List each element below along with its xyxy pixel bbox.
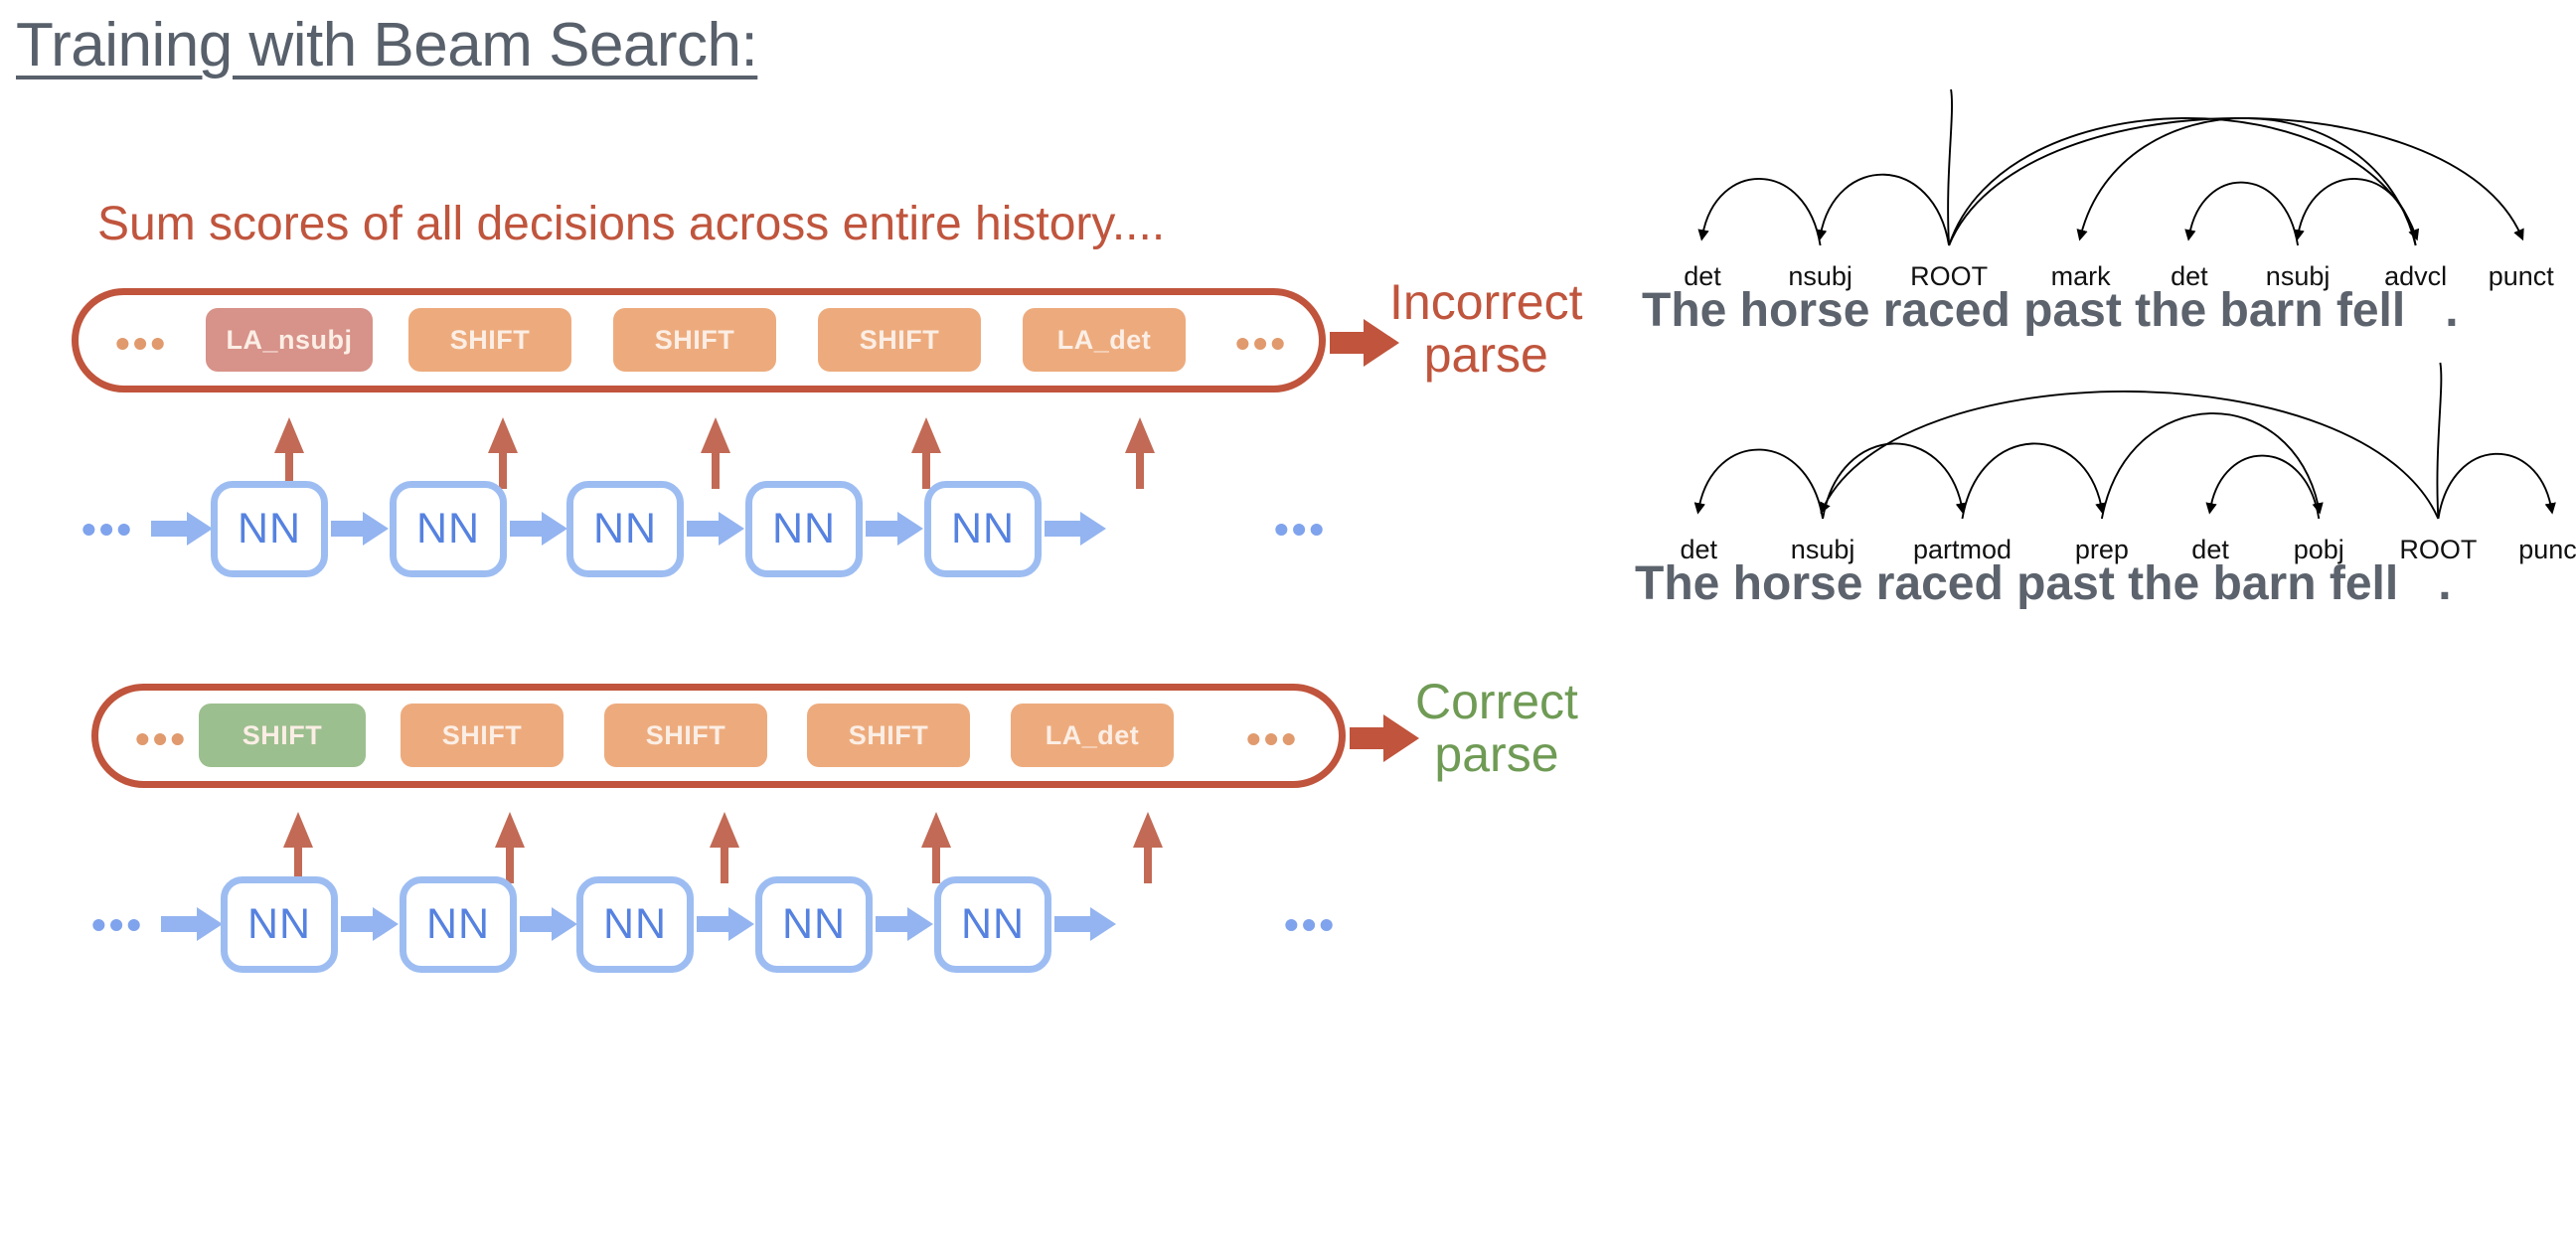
dep-arc-root [2437, 363, 2441, 519]
nn-leading-ellipsis-row1: ••• [81, 509, 134, 550]
nn-input-arrow-row2 [161, 907, 223, 941]
score-arrow-correct-2 [495, 812, 525, 883]
dep-label-punct-7: punct [2489, 261, 2554, 292]
dep-arc-det [1698, 450, 1823, 519]
nn-trailing-ellipsis-row1: ••• [1274, 509, 1327, 550]
action-chip-shift-correct-1[interactable]: SHIFT [199, 704, 366, 767]
dep-arc-advcl [1949, 118, 2416, 245]
dep-arc-nsubj [1821, 175, 1949, 245]
score-arrow-4 [911, 417, 941, 489]
dependency-parse-correct: detnsubjpartmodprepdetpobjROOTpunct The … [1640, 353, 2564, 641]
nn-leading-ellipsis-row2: ••• [91, 904, 144, 946]
dep-arc-mark [2081, 118, 2416, 245]
score-arrow-1 [274, 417, 304, 489]
action-chip-shift-3[interactable]: SHIFT [818, 308, 981, 372]
nn-link-arrow-row2-3 [697, 907, 754, 941]
dep-arc-partmod [1823, 443, 1962, 519]
dep-arc-nsubj [2298, 179, 2416, 245]
verdict-correct-parse: Correct parse [1415, 676, 1578, 781]
nn-box-row1-1[interactable]: NN [211, 481, 328, 577]
dep-label-punct-7: punct [2518, 535, 2576, 565]
action-chip-la-nsubj[interactable]: LA_nsubj [206, 308, 373, 372]
nn-link-arrow-row1-1 [331, 512, 389, 546]
parse-sentence-correct: The horse raced past the barn fell . [1635, 556, 2452, 611]
beam-trailing-ellipsis-correct: ••• [1246, 718, 1299, 760]
nn-output-arrow-row1 [1045, 512, 1106, 546]
verdict-correct-line1: Correct [1415, 676, 1578, 728]
sum-scores-note: Sum scores of all decisions across entir… [97, 197, 1165, 251]
nn-box-row1-2[interactable]: NN [390, 481, 507, 577]
nn-output-arrow-row2 [1054, 907, 1116, 941]
action-chip-shift-correct-4[interactable]: SHIFT [807, 704, 970, 767]
nn-box-row1-4[interactable]: NN [745, 481, 863, 577]
dep-arc-punct [2438, 454, 2551, 519]
beam-leading-ellipsis-incorrect: ••• [115, 323, 168, 365]
dep-arc-prep [1962, 443, 2101, 519]
nn-box-row2-3[interactable]: NN [576, 876, 694, 973]
nn-link-arrow-row2-4 [876, 907, 933, 941]
page-title: Training with Beam Search: [16, 10, 757, 80]
nn-link-arrow-row2-1 [341, 907, 399, 941]
nn-box-row2-5[interactable]: NN [934, 876, 1051, 973]
nn-box-row2-1[interactable]: NN [221, 876, 338, 973]
nn-link-arrow-row2-2 [520, 907, 577, 941]
nn-link-arrow-row1-3 [687, 512, 744, 546]
nn-box-row2-4[interactable]: NN [755, 876, 873, 973]
parse-sentence-incorrect: The horse raced past the barn fell . [1642, 283, 2459, 338]
score-arrow-5 [1125, 417, 1155, 489]
action-chip-la-det[interactable]: LA_det [1023, 308, 1186, 372]
dep-arc-root [1948, 89, 1952, 245]
nn-input-arrow-row1 [151, 512, 213, 546]
nn-box-row1-5[interactable]: NN [924, 481, 1042, 577]
verdict-incorrect-line1: Incorrect [1389, 276, 1583, 329]
dependency-parse-incorrect: detnsubjROOTmarkdetnsubjadvclpunct The h… [1650, 79, 2554, 368]
dep-arc-det [1702, 179, 1821, 245]
score-arrow-correct-3 [710, 812, 739, 883]
score-arrow-correct-1 [283, 812, 313, 883]
action-chip-shift-correct-2[interactable]: SHIFT [401, 704, 563, 767]
score-arrow-2 [488, 417, 518, 489]
dep-arc-pobj [2102, 413, 2319, 519]
action-chip-shift-1[interactable]: SHIFT [408, 308, 571, 372]
score-arrow-3 [701, 417, 730, 489]
nn-box-row2-2[interactable]: NN [400, 876, 517, 973]
action-chip-la-det-correct[interactable]: LA_det [1011, 704, 1174, 767]
action-chip-shift-correct-3[interactable]: SHIFT [604, 704, 767, 767]
beam-trailing-ellipsis-incorrect: ••• [1235, 323, 1288, 365]
dep-arc-det [2189, 183, 2298, 245]
nn-box-row1-3[interactable]: NN [566, 481, 684, 577]
nn-trailing-ellipsis-row2: ••• [1284, 904, 1337, 946]
nn-link-arrow-row1-2 [510, 512, 567, 546]
score-arrow-correct-5 [1133, 812, 1163, 883]
nn-link-arrow-row1-4 [866, 512, 923, 546]
dep-arc-punct [1949, 118, 2521, 245]
beam-leading-ellipsis-correct: ••• [135, 718, 188, 760]
score-arrow-correct-4 [921, 812, 951, 883]
verdict-correct-line2: parse [1415, 728, 1578, 781]
verdict-incorrect-parse: Incorrect parse [1389, 276, 1583, 382]
action-chip-shift-2[interactable]: SHIFT [613, 308, 776, 372]
verdict-incorrect-line2: parse [1389, 329, 1583, 382]
